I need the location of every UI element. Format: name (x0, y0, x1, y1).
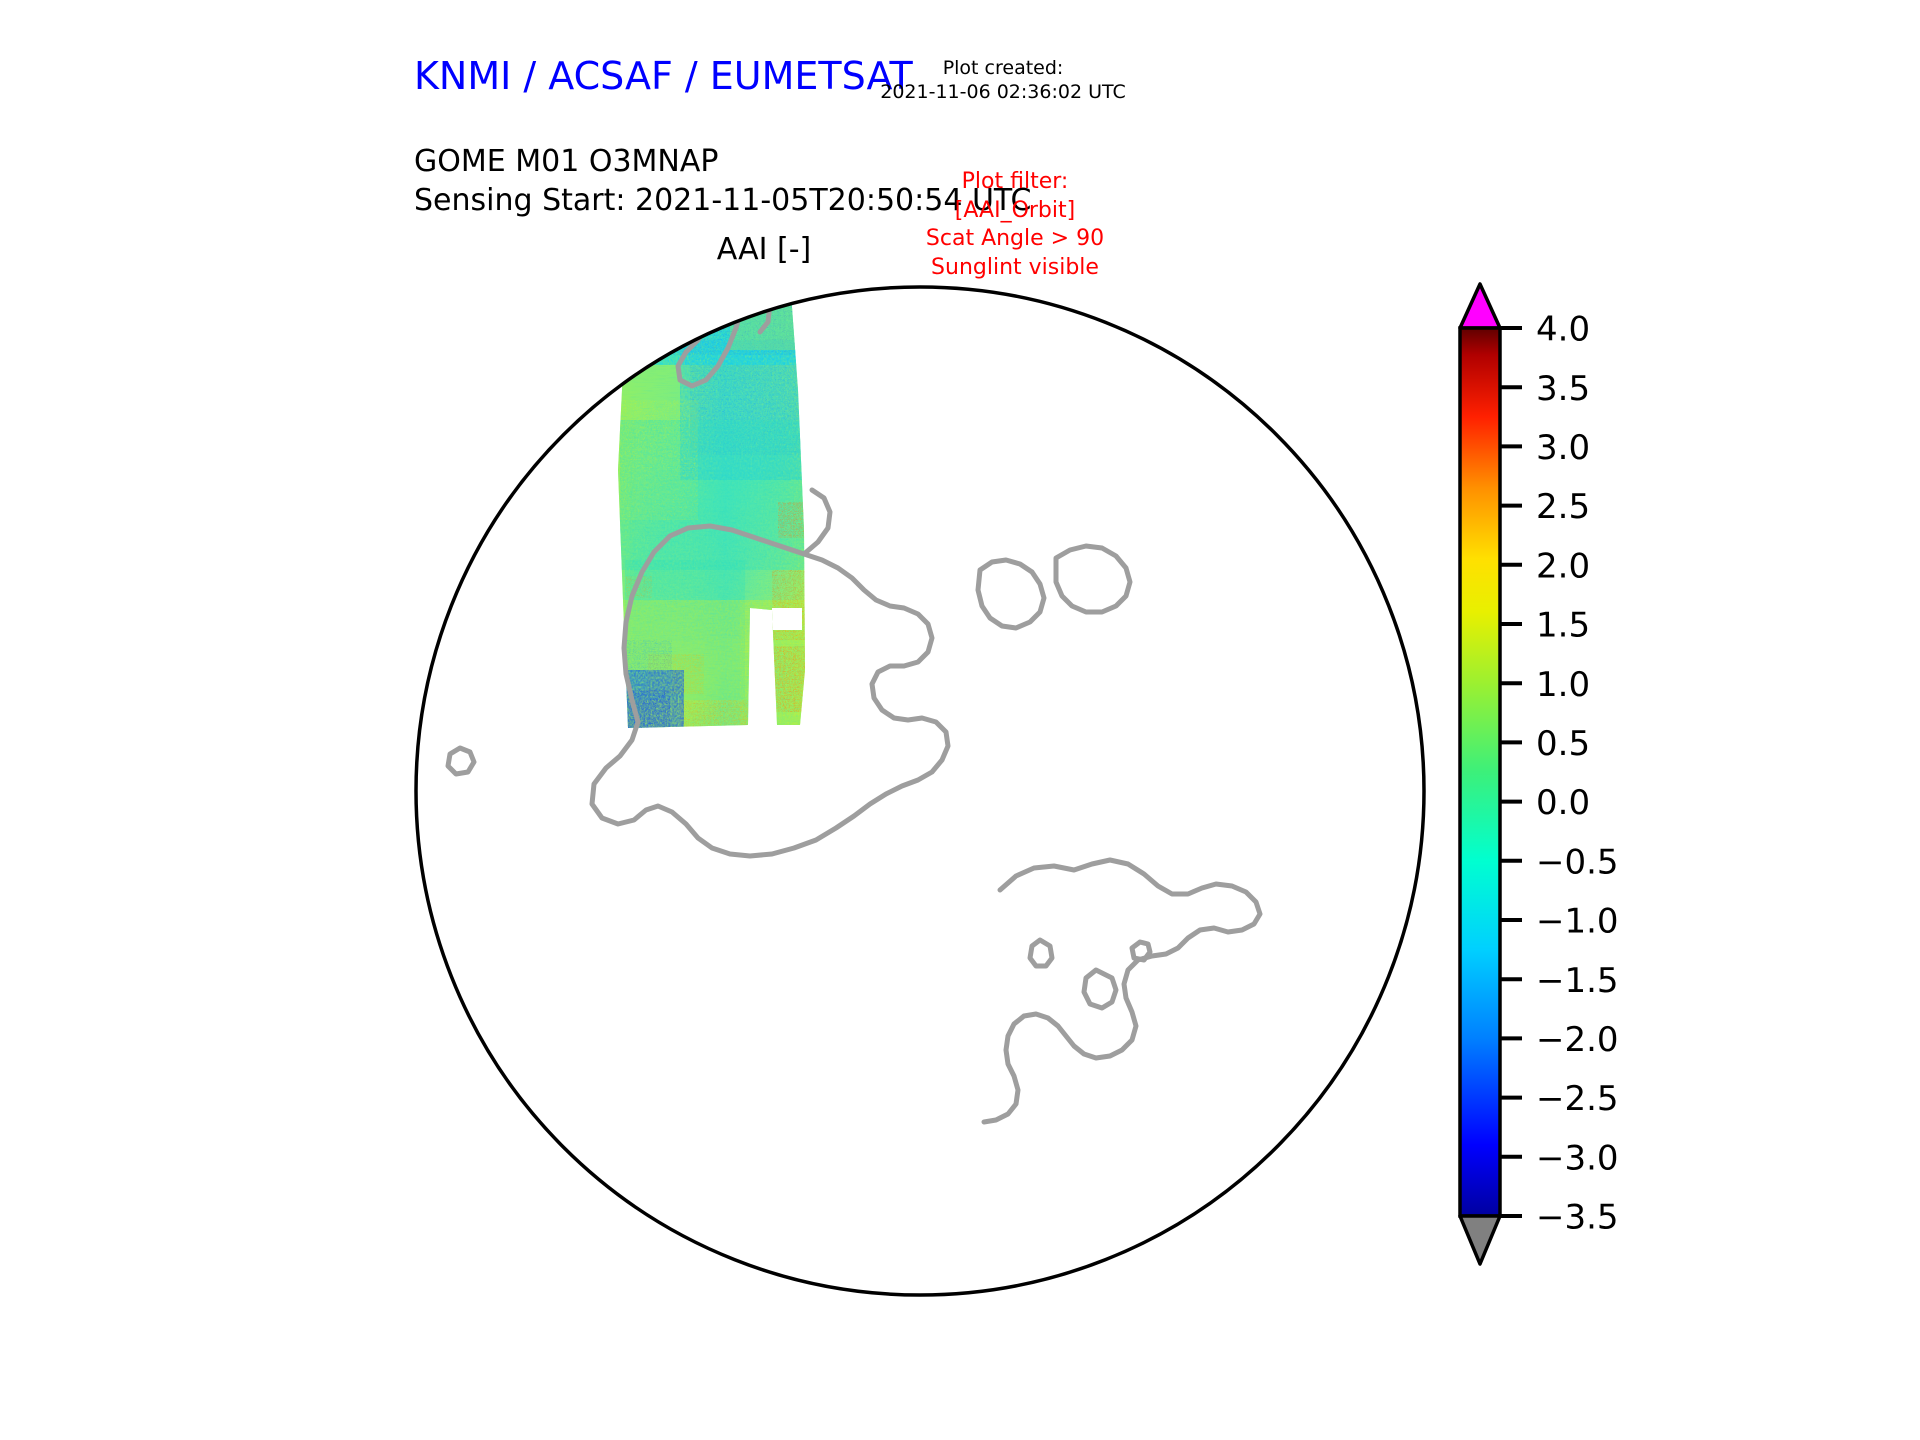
plot-created-block: Plot created: 2021-11-06 02:36:02 UTC (838, 56, 1168, 105)
cb-label-14: −3.0 (1536, 1138, 1619, 1178)
plot-canvas: KNMI / ACSAF / EUMETSAT Plot created: 20… (0, 0, 1920, 1440)
cb-label-4: 2.0 (1536, 546, 1590, 586)
cb-label-1: 3.5 (1536, 369, 1590, 409)
cb-label-13: −2.5 (1536, 1079, 1619, 1119)
cb-label-2: 3.0 (1536, 428, 1590, 468)
plot-filter-block: Plot filter: [AAI_Orbit] Scat Angle > 90… (850, 168, 1180, 282)
satellite-swath (610, 270, 820, 745)
map-panel (380, 270, 1460, 1330)
plot-filter-scat-angle: Scat Angle > 90 (850, 225, 1180, 254)
cb-label-10: −1.0 (1536, 902, 1619, 942)
plot-created-timestamp: 2021-11-06 02:36:02 UTC (838, 80, 1168, 104)
plot-created-label: Plot created: (838, 56, 1168, 80)
globe-background (416, 287, 1424, 1295)
plot-filter-title: Plot filter: (850, 168, 1180, 197)
cb-label-6: 1.0 (1536, 665, 1590, 705)
cb-label-3: 2.5 (1536, 487, 1590, 527)
cb-label-7: 0.5 (1536, 724, 1590, 764)
plot-filter-product: [AAI_Orbit] (850, 197, 1180, 226)
colorbar-under-arrow (1460, 1216, 1500, 1264)
cb-label-15: −3.5 (1536, 1198, 1619, 1238)
cb-label-11: −1.5 (1536, 961, 1619, 1001)
cb-label-0: 4.0 (1536, 310, 1590, 350)
cb-label-5: 1.5 (1536, 606, 1590, 646)
cb-label-12: −2.0 (1536, 1020, 1619, 1060)
colorbar: 4.0 3.5 3.0 2.5 2.0 1.5 1.0 0.5 0.0 −0.5… (1452, 282, 1712, 1312)
colorbar-tick-labels: 4.0 3.5 3.0 2.5 2.0 1.5 1.0 0.5 0.0 −0.5… (1536, 310, 1619, 1238)
cb-label-9: −0.5 (1536, 842, 1619, 882)
colorbar-over-arrow (1460, 284, 1500, 328)
colorbar-gradient (1460, 328, 1500, 1216)
colorbar-ticks (1500, 328, 1522, 1216)
cb-label-8: 0.0 (1536, 783, 1590, 823)
